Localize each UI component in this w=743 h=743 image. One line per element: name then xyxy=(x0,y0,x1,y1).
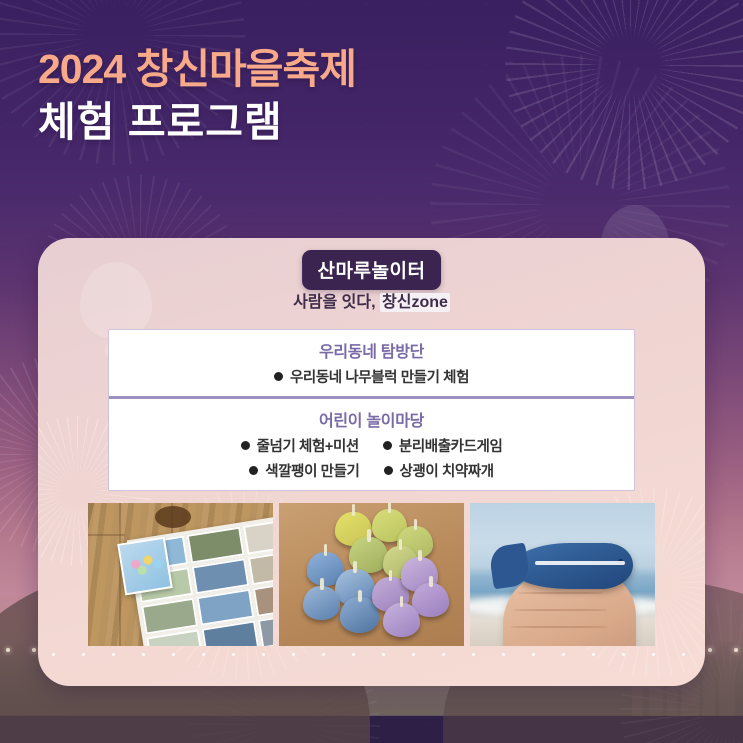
program-item: 우리동네 나무블럭 만들기 체험 xyxy=(274,366,469,387)
venue-badge: 산마루놀이터 xyxy=(302,250,442,290)
program-item: 줄넘기 체험+미션 xyxy=(241,435,359,456)
section-title: 우리동네 탐방단 xyxy=(109,338,634,362)
bullet-dot-icon xyxy=(383,441,392,450)
bullet-dot-icon xyxy=(249,466,258,475)
poster-canvas: 2024 창신마을축제 체험 프로그램 산마루놀이터 사람을 잇다, 창신zon… xyxy=(0,0,743,743)
photo-strip: 우리동네 나무블럭 사진카드 색깔팽이 만들기 결과물 xyxy=(88,503,655,646)
bullet-dot-icon xyxy=(241,441,250,450)
program-item-label: 분리배출카드게임 xyxy=(399,435,503,456)
photo-wood-blocks: 우리동네 나무블럭 사진카드 xyxy=(88,503,273,646)
bullet-dot-icon xyxy=(384,466,393,475)
whale-squeezer xyxy=(511,543,633,589)
wood-block-box xyxy=(118,537,174,596)
program-item-label: 상괭이 치약짜개 xyxy=(400,460,494,481)
whale-eye xyxy=(618,559,623,564)
string-lights xyxy=(38,653,705,665)
program-section: 어린이 놀이마당 줄넘기 체험+미션 분리배출카드게임 색깔팽이 만들기 xyxy=(109,396,634,490)
program-item: 색깔팽이 만들기 xyxy=(249,460,359,481)
program-item: 분리배출카드게임 xyxy=(383,435,503,456)
program-card: 산마루놀이터 사람을 잇다, 창신zone 우리동네 탐방단 우리동네 나무블럭… xyxy=(38,238,705,686)
program-item: 상괭이 치약짜개 xyxy=(384,460,494,481)
program-item-label: 줄넘기 체험+미션 xyxy=(257,435,359,456)
program-item-label: 색깔팽이 만들기 xyxy=(265,460,359,481)
tagline-highlight: 창신zone xyxy=(380,293,450,312)
poster-header: 2024 창신마을축제 체험 프로그램 xyxy=(38,48,678,144)
page-title-primary: 2024 창신마을축제 xyxy=(38,48,678,91)
venue-tagline: 사람을 잇다, 창신zone xyxy=(38,288,705,312)
program-item-row: 색깔팽이 만들기 상괭이 치약짜개 xyxy=(109,460,634,481)
tagline-prefix: 사람을 잇다, xyxy=(293,294,380,311)
program-item-label: 우리동네 나무블럭 만들기 체험 xyxy=(290,366,469,387)
bullet-dot-icon xyxy=(274,372,283,381)
program-item-row: 우리동네 나무블럭 만들기 체험 xyxy=(109,366,634,387)
program-panel: 우리동네 탐방단 우리동네 나무블럭 만들기 체험 어린이 놀이마당 줄넘기 체… xyxy=(108,329,635,491)
program-item-row: 줄넘기 체험+미션 분리배출카드게임 xyxy=(109,435,634,456)
photo-whale-squeezer: 상괭이 치약짜개 xyxy=(470,503,655,646)
section-title: 어린이 놀이마당 xyxy=(109,407,634,431)
program-section: 우리동네 탐방단 우리동네 나무블럭 만들기 체험 xyxy=(109,330,634,396)
photo-clay-tops: 색깔팽이 만들기 결과물 xyxy=(279,503,464,646)
page-title-secondary: 체험 프로그램 xyxy=(38,101,678,144)
